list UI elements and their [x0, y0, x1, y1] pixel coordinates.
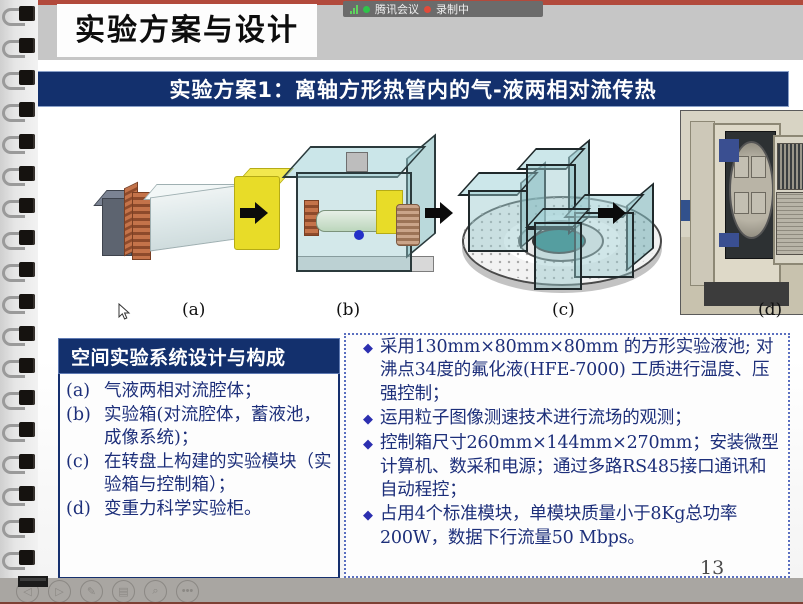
page-title: 实验方案与设计	[75, 16, 299, 46]
figure-a-copper-fins	[132, 192, 151, 260]
bullet-text: 控制箱尺寸260mm×144mm×270mm；安装微型计算机、数采和电源；通过多…	[380, 432, 780, 502]
mouse-cursor-on-slide	[118, 303, 131, 321]
bullet-text: 运用粒子图像测速技术进行流场的观测；	[380, 407, 780, 432]
figure-b-blue-marker	[354, 230, 364, 240]
binding-ring	[2, 134, 36, 151]
presentation-toolbar: ◁ ▷ ✎ ▤ ⌕ •••	[0, 578, 803, 604]
figure-b-caption: (b)	[336, 300, 360, 320]
figure-b-reservoir	[396, 204, 420, 246]
binding-ring	[2, 294, 36, 311]
green-dot-icon	[363, 6, 370, 13]
figure-d-photograph	[680, 110, 803, 315]
list-item: (d) 变重力科学实验柜。	[66, 498, 336, 521]
binding-ring	[2, 390, 36, 407]
slide-canvas[interactable]: 实验方案与设计 实验方案1：离轴方形热管内的气-液两相对流传热 (a)	[0, 0, 803, 578]
bullet-item: ◆ 采用130mm×80mm×80mm 的方形实验液池; 对沸点34度的氟化液(…	[346, 336, 788, 406]
arrow-c-to-d	[598, 202, 626, 224]
list-item-text: 气液两相对流腔体；	[104, 380, 336, 403]
recording-status-label: 录制中	[436, 1, 469, 17]
section-heading-bar: 实验方案1：离轴方形热管内的气-液两相对流传热	[37, 71, 789, 107]
list-item: (a) 气液两相对流腔体；	[66, 380, 336, 403]
figure-b-convection-cell	[316, 210, 384, 232]
binding-ring	[2, 230, 36, 247]
right-panel: ◆ 采用130mm×80mm×80mm 的方形实验液池; 对沸点34度的氟化液(…	[344, 333, 790, 578]
spiral-binding	[0, 0, 38, 578]
binding-ring	[2, 454, 36, 471]
mouse-cursor-on-toolbar	[18, 575, 52, 591]
binding-ring	[2, 38, 36, 55]
binding-ring	[2, 6, 36, 23]
zoom-button[interactable]: ⌕	[144, 580, 167, 603]
left-panel: 空间实验系统设计与构成 (a) 气液两相对流腔体； (b) 实验箱(对流腔体，蓄…	[58, 338, 340, 578]
figure-c-module-front	[530, 206, 600, 296]
binding-ring	[2, 422, 36, 439]
bullet-item: ◆ 运用粒子图像测速技术进行流场的观测；	[346, 407, 788, 432]
slide-page-number: 13	[700, 557, 724, 578]
page-title-box: 实验方案与设计	[57, 4, 317, 57]
bullet-item: ◆ 占用4个标准模块，单模块质量小于8Kg总功率200W，数据下行流量50 Mb…	[346, 503, 788, 550]
presentation-window: 实验方案与设计 实验方案1：离轴方形热管内的气-液两相对流传热 (a)	[0, 0, 803, 604]
figure-b	[288, 138, 438, 278]
list-item-text: 在转盘上构建的实验模块（实验箱与控制箱）；	[104, 451, 336, 497]
binding-ring	[2, 262, 36, 279]
binding-ring	[2, 358, 36, 375]
list-item-text: 变重力科学实验柜。	[104, 498, 336, 521]
figure-c-caption: (c)	[552, 300, 575, 320]
bullet-text: 采用130mm×80mm×80mm 的方形实验液池; 对沸点34度的氟化液(HF…	[380, 336, 780, 406]
bullet-diamond-icon: ◆	[356, 336, 380, 406]
binding-ring	[2, 70, 36, 87]
figure-a-caption: (a)	[182, 300, 205, 320]
left-panel-header-text: 空间实验系统设计与构成	[71, 343, 286, 370]
list-item-label: (d)	[66, 498, 104, 521]
binding-ring	[2, 198, 36, 215]
bullet-diamond-icon: ◆	[356, 503, 380, 550]
list-item-label: (b)	[66, 404, 104, 450]
figure-b-camera	[346, 152, 368, 172]
figure-row: (a) (b)	[40, 110, 788, 325]
list-item-text: 实验箱(对流腔体，蓄液池，成像系统)；	[104, 404, 336, 450]
binding-ring	[2, 326, 36, 343]
list-item-label: (a)	[66, 380, 104, 403]
bullet-diamond-icon: ◆	[356, 407, 380, 432]
arrow-a-to-b	[240, 202, 268, 224]
bullet-item: ◆ 控制箱尺寸260mm×144mm×270mm；安装微型计算机、数采和电源；通…	[346, 432, 788, 502]
binding-ring	[2, 166, 36, 183]
binding-ring	[2, 550, 36, 567]
left-panel-list: (a) 气液两相对流腔体； (b) 实验箱(对流腔体，蓄液池，成像系统)； (c…	[66, 380, 336, 523]
figure-d	[680, 110, 803, 315]
red-record-dot-icon	[424, 6, 431, 13]
list-item: (b) 实验箱(对流腔体，蓄液池，成像系统)；	[66, 404, 336, 450]
list-item-label: (c)	[66, 451, 104, 497]
left-panel-header: 空间实验系统设计与构成	[58, 338, 340, 374]
section-heading-text: 实验方案1：离轴方形热管内的气-液两相对流传热	[169, 74, 656, 104]
figure-c	[460, 132, 670, 292]
slide-navigator-button[interactable]: ▤	[112, 580, 135, 603]
arrow-b-to-c	[425, 202, 453, 224]
signal-bars-icon	[350, 5, 358, 14]
meeting-app-label: 腾讯会议	[375, 1, 419, 17]
bullet-diamond-icon: ◆	[356, 432, 380, 502]
recording-indicator[interactable]: 腾讯会议 录制中	[343, 1, 543, 17]
bullet-text: 占用4个标准模块，单模块质量小于8Kg总功率200W，数据下行流量50 Mbps…	[380, 503, 780, 550]
binding-ring	[2, 102, 36, 119]
pen-annotation-button[interactable]: ✎	[80, 580, 103, 603]
figure-d-caption: (d)	[758, 300, 782, 320]
list-item: (c) 在转盘上构建的实验模块（实验箱与控制箱）；	[66, 451, 336, 497]
more-options-button[interactable]: •••	[176, 580, 199, 603]
binding-ring	[2, 518, 36, 535]
binding-ring	[2, 486, 36, 503]
